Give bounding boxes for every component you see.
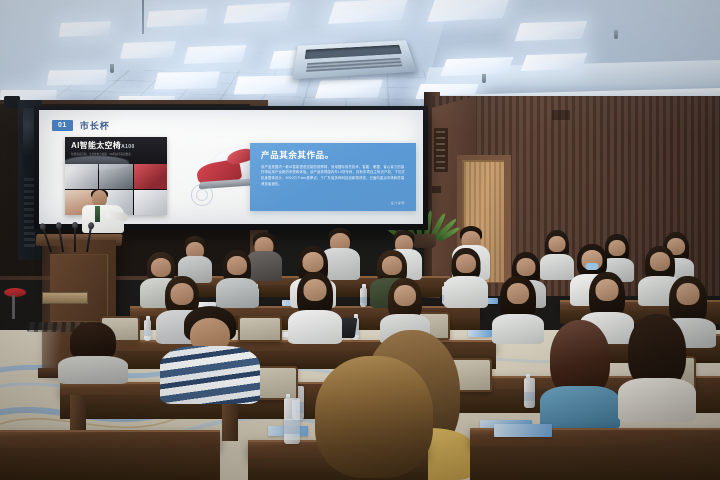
ceiling-light-panel	[233, 75, 300, 94]
ceiling-light-panel	[154, 71, 220, 89]
attendee-torso	[216, 278, 258, 308]
attendee-head	[304, 279, 327, 301]
info-panel-body: 该产品是国内一款AI智能语音控制的按摩椅，采用国际领先技术，智能、便捷、省心省力…	[261, 165, 406, 188]
ceiling-light-panel	[146, 8, 207, 27]
attendee-torso	[58, 356, 128, 384]
attendee-head	[227, 256, 247, 275]
attendee-torso	[540, 386, 620, 430]
microphone	[74, 226, 76, 252]
attendee-head	[456, 254, 476, 273]
poster-title-row: AI智能太空椅A100	[71, 142, 163, 150]
attendee-hair	[315, 356, 433, 478]
attendee	[540, 320, 620, 430]
ceiling-light-panel	[521, 53, 588, 71]
poster-product-name: AI智能太空椅	[71, 141, 121, 150]
ceiling-light-panel	[515, 21, 588, 41]
info-panel-title: 产品其余其作品。	[261, 151, 406, 160]
attendee-head	[517, 258, 536, 276]
water-bottle	[144, 320, 151, 341]
wall-outlet-panel	[42, 292, 88, 304]
water-bottle	[524, 378, 535, 408]
attendee-head	[171, 283, 194, 305]
ceiling-light-panel	[47, 69, 108, 85]
sprinkler-head	[482, 74, 486, 83]
lectern-front-panel	[50, 254, 108, 322]
ceiling-light-panel	[328, 0, 408, 24]
attendee-head	[303, 252, 324, 272]
info-panel-signature: 设计说明	[391, 201, 405, 205]
presenter-lanyard	[95, 206, 100, 222]
attendee	[618, 314, 696, 422]
wall-vent	[552, 110, 570, 120]
slide-info-panel: 产品其余其作品。 该产品是国内一款AI智能语音控制的按摩椅，采用国际领先技术，智…	[250, 143, 416, 211]
ceiling-light-panel	[120, 41, 176, 59]
attendee	[288, 272, 342, 344]
poster-thumbnail	[134, 164, 167, 189]
slide-section-title: 市长杯	[80, 119, 110, 132]
red-stool	[4, 288, 26, 297]
red-stool-leg	[12, 295, 15, 319]
attendee-torso	[288, 310, 342, 344]
attendee	[444, 248, 488, 308]
attendee-torso	[618, 378, 696, 422]
slide-header: 01 市长杯	[52, 119, 110, 132]
slide-section-number: 01	[52, 120, 73, 131]
attendee-head	[382, 256, 402, 275]
ceiling-light-panel	[440, 57, 513, 76]
water-bottle	[360, 288, 367, 307]
attendee-torso	[492, 314, 544, 344]
attendee	[216, 250, 258, 308]
attendee	[492, 276, 544, 344]
poster-thumbnail	[134, 190, 167, 215]
attendee-torso	[444, 276, 488, 308]
face-mask	[586, 263, 599, 270]
ceiling-light-panel	[223, 2, 290, 23]
document-folder	[494, 424, 552, 437]
attendee-head	[507, 283, 529, 304]
attendee-foreground	[304, 356, 444, 480]
attendee-head	[596, 279, 619, 301]
foreground-desk	[0, 430, 220, 448]
ceiling-light-panel	[59, 21, 111, 37]
water-bottle	[284, 398, 300, 444]
chair-reflection	[63, 156, 129, 170]
ceiling-hanger-rod	[142, 0, 144, 34]
ceiling-light-panel	[184, 45, 247, 64]
attendee-head	[549, 236, 566, 252]
poster-model-number: A100	[121, 144, 135, 150]
attendee-torso	[160, 346, 260, 404]
attendee-head	[677, 283, 700, 305]
wall-plaque	[434, 128, 448, 172]
attendee	[58, 322, 128, 384]
watermark-icon	[191, 184, 213, 206]
attendee-head	[650, 252, 670, 271]
sprinkler-head	[110, 64, 114, 73]
sprinkler-head	[614, 30, 618, 39]
conference-room-photo: 01 市长杯 AI智能太空椅A100 智能语音控制 · 全身零重力按摩 · 3D…	[0, 0, 720, 480]
attendee-striped-shirt	[160, 306, 260, 404]
attendee-head	[394, 285, 416, 306]
attendee-head	[151, 258, 171, 277]
ceiling-light-panel	[315, 79, 383, 98]
